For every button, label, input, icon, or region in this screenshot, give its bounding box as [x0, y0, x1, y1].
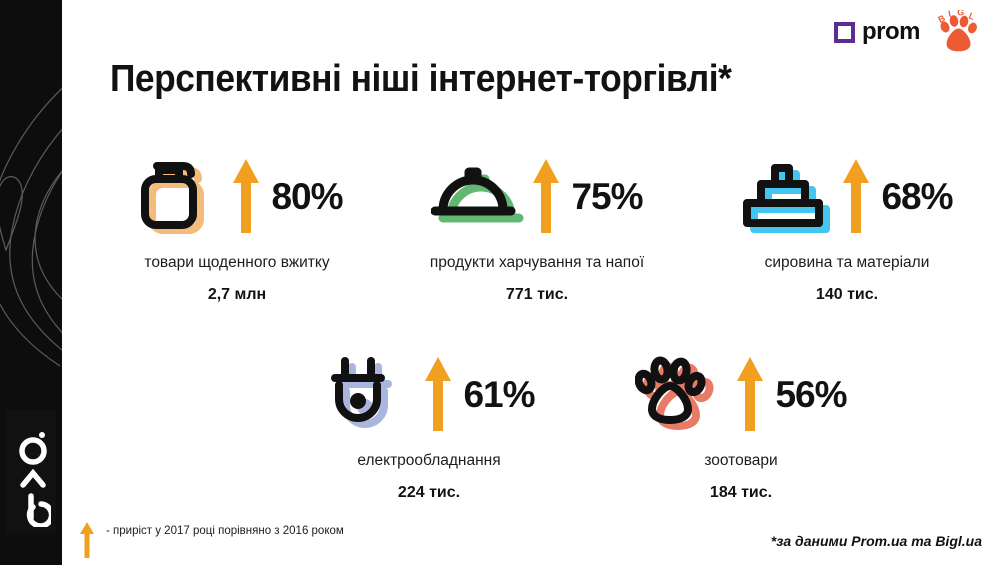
stat-value: 2,7 млн: [96, 286, 378, 304]
stat-row: 80%: [96, 150, 378, 242]
footnote-arrow-icon: [78, 520, 96, 560]
slide-canvas: prom B I G L Перспективні ніші: [0, 0, 1000, 565]
power-plug-icon: [323, 351, 415, 437]
stat-value: 140 тис.: [706, 286, 988, 304]
stat-row: 68%: [706, 150, 988, 242]
stat-row: 75%: [396, 150, 678, 242]
stat-label: товари щоденного вжитку: [96, 254, 378, 272]
svg-text:L: L: [967, 11, 976, 23]
svg-text:G: G: [957, 10, 965, 17]
growth-arrow-icon: [229, 155, 263, 237]
brand-logos: prom B I G L: [834, 10, 982, 54]
decorative-swirl-lines: [0, 40, 62, 370]
footnote: - приріст у 2017 році порівняно з 2016 р…: [78, 518, 344, 560]
stat-label: зоотовари: [600, 452, 882, 470]
stat-card-food-beverages: 75% продукти харчування та напої 771 тис…: [396, 150, 678, 304]
stat-card-pet-goods: 56% зоотовари 184 тис.: [600, 348, 882, 502]
stat-label: продукти харчування та напої: [396, 254, 678, 272]
footnote-text: - приріст у 2017 році порівняно з 2016 р…: [106, 518, 344, 540]
bigl-logo[interactable]: B I G L: [934, 10, 982, 54]
stat-label: електрообладнання: [288, 452, 570, 470]
stat-row: 56%: [600, 348, 882, 440]
bigl-paw-icon: B I G L: [934, 10, 982, 54]
growth-arrow-icon: [839, 155, 873, 237]
stat-card-daily-goods: 80% товари щоденного вжитку 2,7 млн: [96, 150, 378, 304]
stat-row: 61%: [288, 348, 570, 440]
stat-percent: 75%: [571, 178, 642, 215]
growth-arrow-icon: [529, 155, 563, 237]
stat-label: сировина та матеріали: [706, 254, 988, 272]
soap-dispenser-icon: [131, 153, 223, 239]
stat-card-raw-materials: 68% сировина та матеріали 140 тис.: [706, 150, 988, 304]
food-cloche-icon: [431, 153, 523, 239]
growth-arrow-icon: [421, 353, 455, 435]
stat-value: 184 тис.: [600, 484, 882, 502]
paw-print-icon: [635, 351, 727, 437]
left-sidebar-rail: [0, 0, 62, 565]
stat-card-electrical-equipment: 61% електрообладнання 224 тис.: [288, 348, 570, 502]
stat-percent: 61%: [463, 376, 534, 413]
stat-percent: 56%: [775, 376, 846, 413]
stat-percent: 68%: [881, 178, 952, 215]
growth-arrow-icon: [733, 353, 767, 435]
evo-logo-mark: [11, 419, 51, 527]
prom-square-icon: [834, 22, 855, 43]
svg-text:I: I: [947, 10, 952, 19]
stat-value: 224 тис.: [288, 484, 570, 502]
stat-value: 771 тис.: [396, 286, 678, 304]
evo-logo-dot: [39, 432, 45, 438]
evo-logo: [6, 410, 56, 535]
raw-materials-icon: [741, 153, 833, 239]
page-title: Перспективні ніші інтернет-торгівлі*: [110, 58, 731, 101]
source-note: *за даними Prom.ua та Bigl.ua: [771, 533, 982, 549]
prom-wordmark: prom: [862, 20, 920, 44]
stat-percent: 80%: [271, 178, 342, 215]
prom-logo[interactable]: prom: [834, 20, 920, 44]
